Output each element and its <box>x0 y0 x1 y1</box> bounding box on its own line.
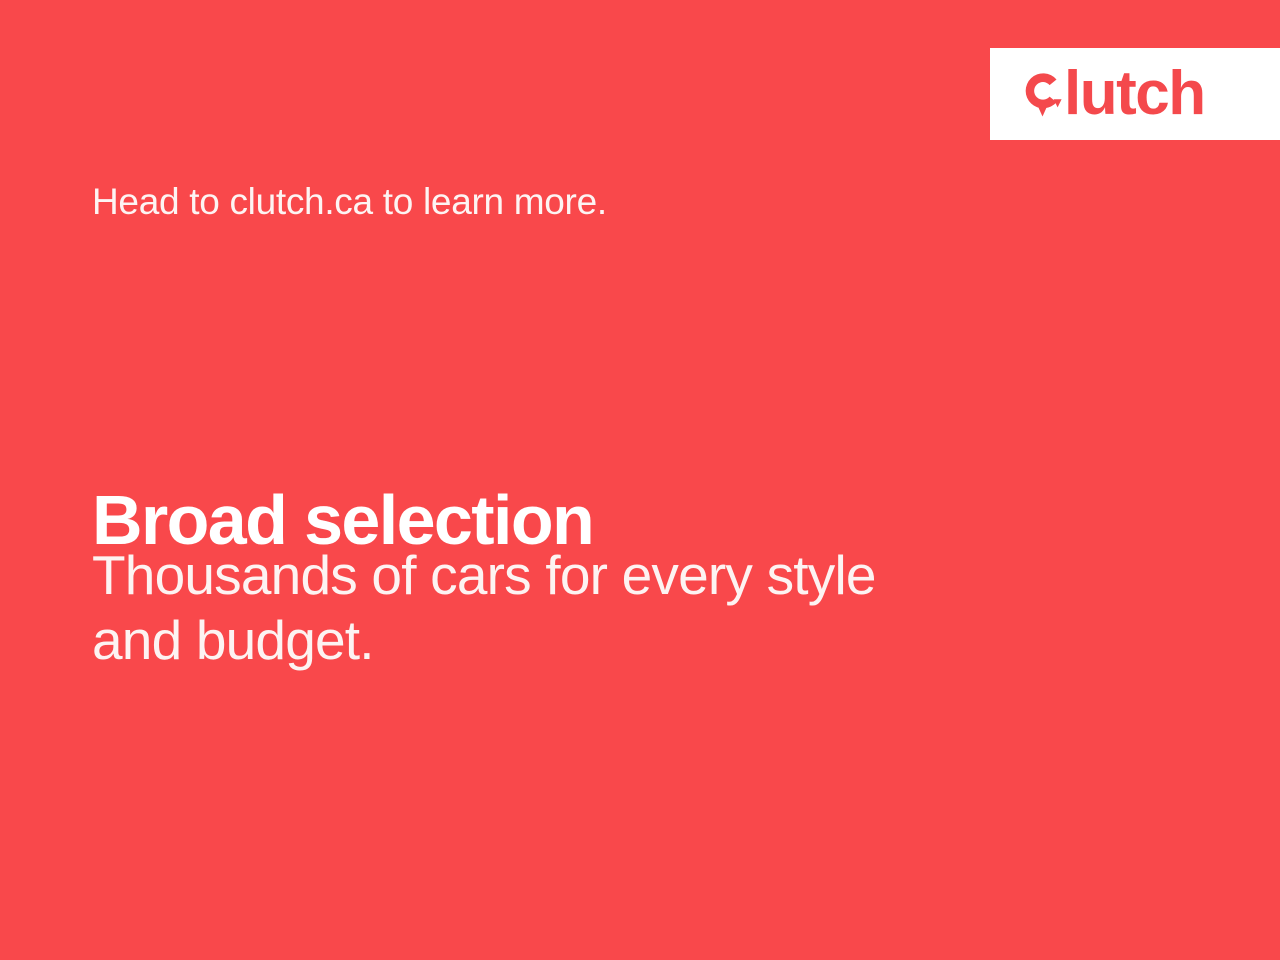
kicker-text: Head to clutch.ca to learn more. <box>92 180 607 224</box>
subheading-line: Thousands of cars for every style <box>92 543 876 608</box>
clutch-logo: lutch <box>990 48 1280 140</box>
clutch-c-mark-icon <box>1020 68 1066 120</box>
subheading-text: Thousands of cars for every style and bu… <box>92 543 876 673</box>
clutch-wordmark: lutch <box>1064 63 1205 125</box>
subheading-line: and budget. <box>92 608 876 673</box>
promo-slide: lutch Head to clutch.ca to learn more. B… <box>0 0 1280 960</box>
